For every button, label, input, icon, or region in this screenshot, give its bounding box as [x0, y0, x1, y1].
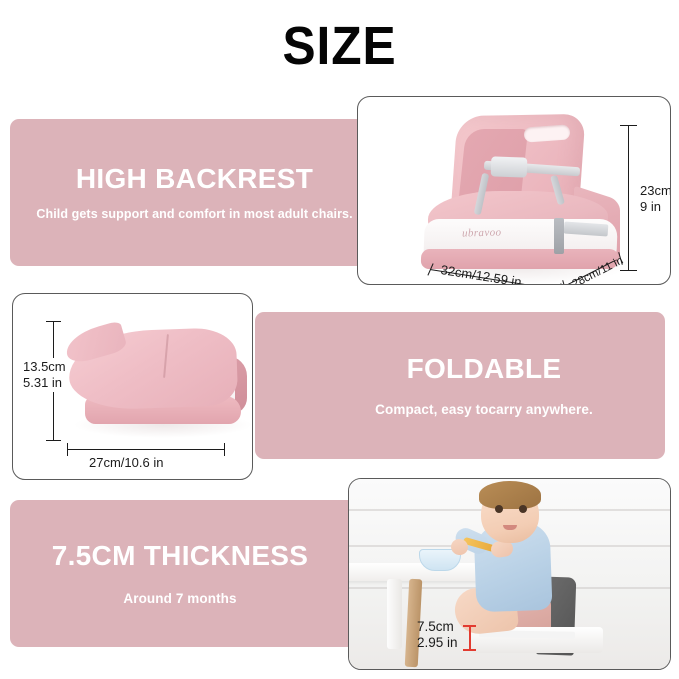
thickness-tick-bottom — [463, 649, 476, 651]
thickness-in: 2.95 in — [417, 635, 458, 651]
feature-subtitle: Around 7 months — [123, 591, 236, 606]
baby-using-booster-seat-illustration: 7.5cm 2.95 in — [349, 479, 670, 669]
feature-panel-high-backrest: HIGH BACKREST Child gets support and com… — [10, 119, 365, 266]
height-dimension-cm: 23cm — [640, 183, 671, 199]
harness-buckle — [491, 156, 528, 177]
infographic-page: SIZE HIGH BACKREST Child gets support an… — [0, 0, 679, 679]
folded-height-tick-top — [46, 321, 61, 322]
folded-booster-seat-illustration: 13.5cm 5.31 in 27cm/10.6 in — [13, 294, 252, 479]
thickness-dimension-label: 7.5cm 2.95 in — [417, 619, 458, 652]
feature-subtitle: Compact, easy tocarry anywhere. — [375, 402, 593, 417]
folded-width-tick-left — [67, 443, 68, 456]
thickness-tick-top — [463, 625, 476, 627]
strap-clip — [554, 218, 564, 254]
height-dimension-label: 23cm 9 in — [640, 183, 671, 215]
folded-height-label: 13.5cm 5.31 in — [21, 358, 68, 392]
seat-carry-handle — [524, 124, 571, 142]
thickness-cm: 7.5cm — [417, 619, 458, 635]
baby-eye-left — [495, 505, 503, 513]
table-leg-white — [387, 579, 402, 649]
baby-hair — [479, 481, 541, 509]
page-title: SIZE — [27, 18, 652, 75]
feature-heading: HIGH BACKREST — [76, 164, 313, 195]
folded-width-dimension-line — [67, 449, 225, 450]
feature-subtitle: Child gets support and comfort in most a… — [36, 207, 352, 221]
photo-card-folded-seat: 13.5cm 5.31 in 27cm/10.6 in — [12, 293, 253, 480]
folded-width-label: 27cm/10.6 in — [89, 455, 163, 471]
thickness-dimension-line — [469, 625, 471, 651]
height-dimension-tick-top — [620, 125, 637, 126]
height-dimension-tick-bottom — [620, 270, 637, 271]
folded-height-tick-bottom — [46, 440, 61, 441]
upright-booster-seat-illustration: ubravoo 23cm 9 in 32cm/12.59 in 28cm/11 … — [358, 97, 670, 284]
height-dimension-in: 9 in — [640, 199, 671, 215]
feature-heading: FOLDABLE — [407, 354, 562, 385]
baby-eye-right — [519, 505, 527, 513]
height-dimension-line — [628, 125, 629, 271]
folded-width-tick-right — [224, 443, 225, 456]
feature-panel-foldable: FOLDABLE Compact, easy tocarry anywhere. — [255, 312, 665, 459]
brand-logo: ubravoo — [462, 226, 502, 239]
photo-card-upright-seat: ubravoo 23cm 9 in 32cm/12.59 in 28cm/11 … — [357, 96, 671, 285]
feature-heading: 7.5CM THICKNESS — [52, 541, 309, 572]
photo-card-baby-lifestyle: 7.5cm 2.95 in — [348, 478, 671, 670]
folded-height-cm: 13.5cm — [23, 359, 66, 375]
feature-panel-thickness: 7.5CM THICKNESS Around 7 months — [10, 500, 358, 647]
folded-height-in: 5.31 in — [23, 375, 66, 391]
